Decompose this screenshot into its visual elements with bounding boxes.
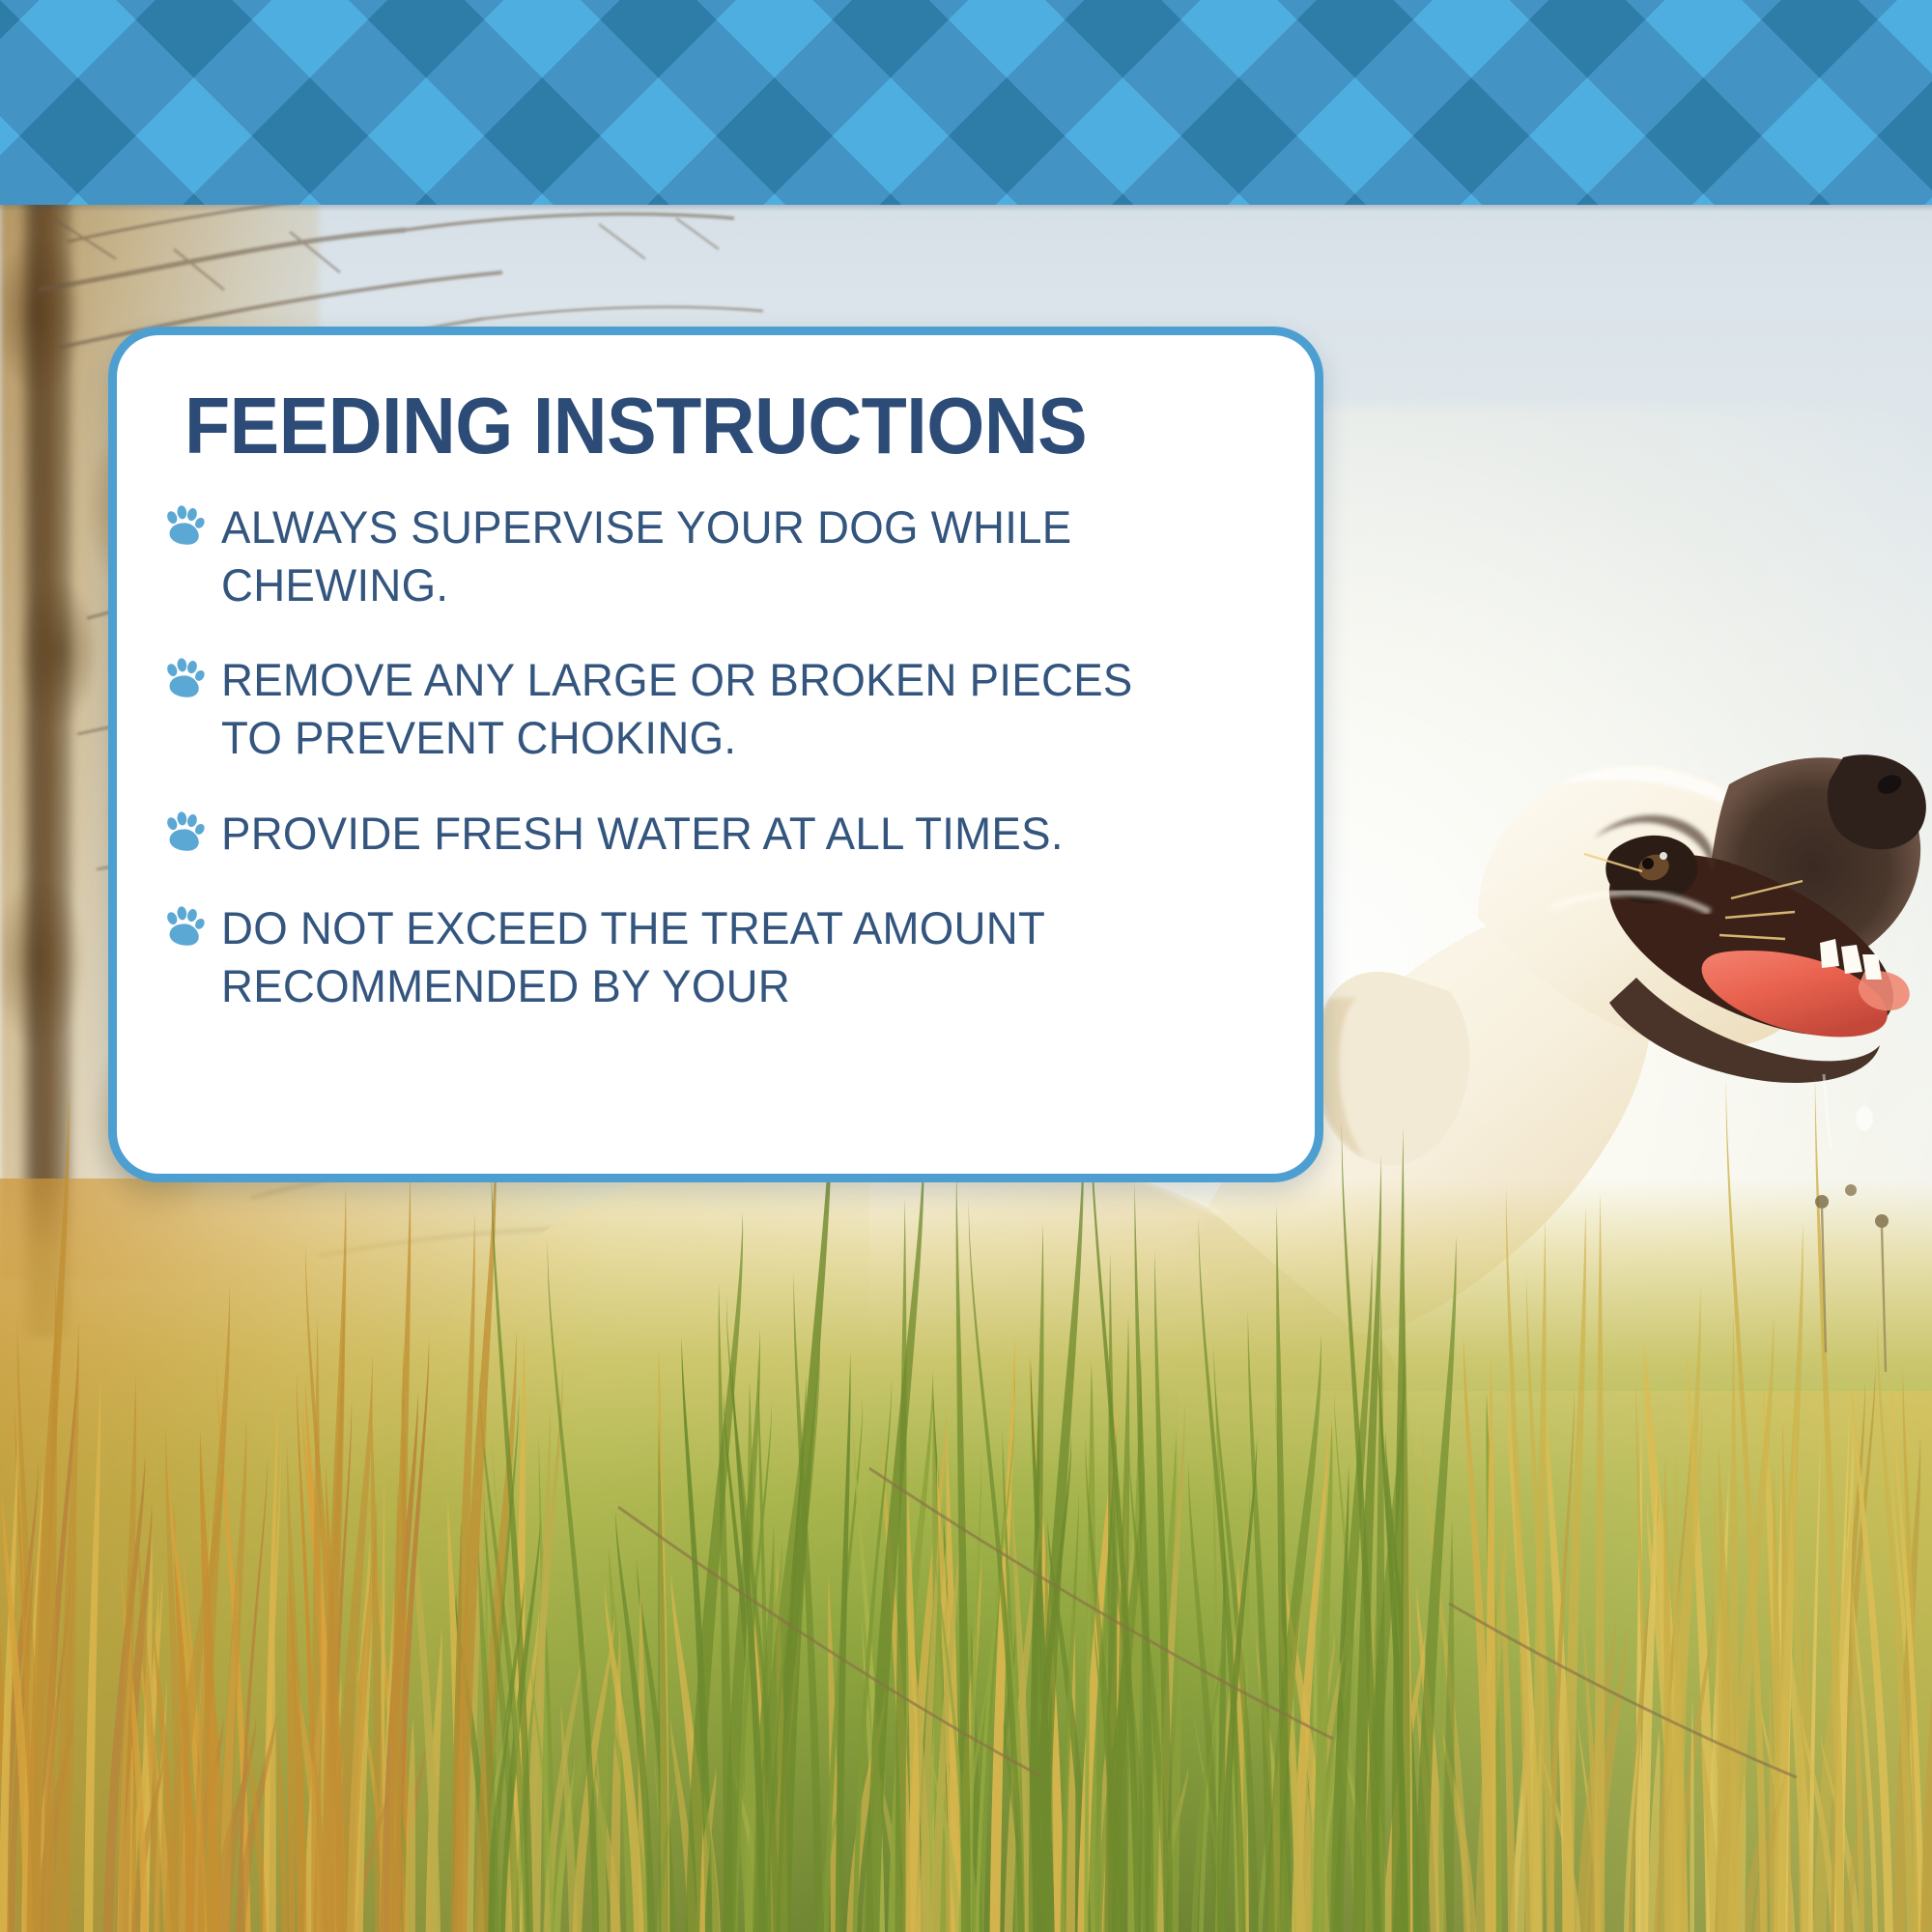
- paw-print-icon: [163, 905, 206, 948]
- paw-print-icon: [163, 657, 206, 699]
- header-drop-shadow: [0, 205, 1932, 212]
- list-item-label: PROVIDE FRESH WATER AT ALL TIMES.: [221, 805, 1064, 863]
- gingham-pattern: [0, 0, 1932, 205]
- product-detail-image: FEEDING INSTRUCTIONS ALWAYS SUPERVISE YO…: [0, 0, 1932, 1932]
- feeding-instructions-card: FEEDING INSTRUCTIONS ALWAYS SUPERVISE YO…: [108, 327, 1323, 1182]
- list-item-label: REMOVE ANY LARGE OR BROKEN PIECES TO PRE…: [221, 651, 1186, 767]
- gingham-header-band: [0, 0, 1932, 205]
- list-item: DO NOT EXCEED THE TREAT AMOUNT RECOMMEND…: [163, 899, 1259, 1015]
- paw-print-icon: [163, 504, 206, 547]
- instructions-list: ALWAYS SUPERVISE YOUR DOG WHILE CHEWING.…: [163, 498, 1259, 1015]
- list-item: ALWAYS SUPERVISE YOUR DOG WHILE CHEWING.: [163, 498, 1259, 614]
- list-item-label: ALWAYS SUPERVISE YOUR DOG WHILE CHEWING.: [221, 498, 1186, 614]
- list-item: REMOVE ANY LARGE OR BROKEN PIECES TO PRE…: [163, 651, 1259, 767]
- paw-print-icon: [163, 810, 206, 853]
- list-item: PROVIDE FRESH WATER AT ALL TIMES.: [163, 805, 1259, 863]
- list-item-label: DO NOT EXCEED THE TREAT AMOUNT RECOMMEND…: [221, 899, 1186, 1015]
- page-title: FEEDING INSTRUCTIONS: [185, 385, 1183, 466]
